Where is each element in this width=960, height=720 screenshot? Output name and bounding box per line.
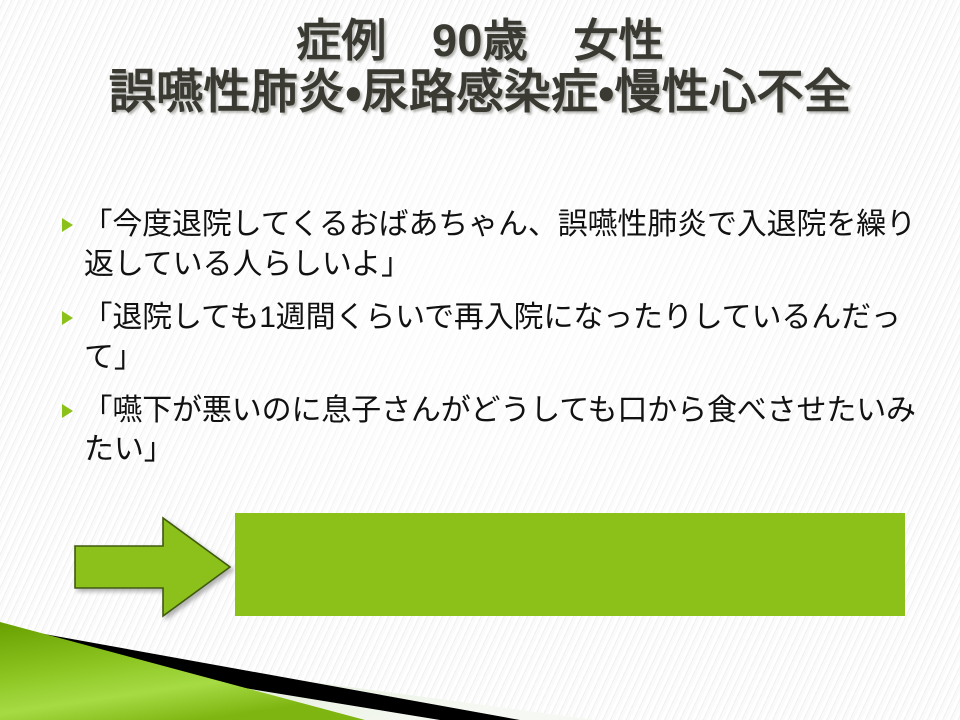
title-line-1: 症例 90歳 女性 (40, 16, 920, 66)
triangle-bullet-icon (62, 205, 84, 232)
slide-canvas: 症例 90歳 女性 誤嚥性肺炎・尿路感染症・慢性心不全 「今度退院してくるおばあ… (0, 0, 960, 720)
list-item-label: 「嚥下が悪いのに息子さんがどうしても口から食べさせたいみたい」 (84, 391, 917, 471)
list-item: 「嚥下が悪いのに息子さんがどうしても口から食べさせたいみたい」 (62, 391, 917, 471)
title-line-2: 誤嚥性肺炎・尿路感染症・慢性心不全 (40, 66, 920, 119)
list-item: 「退院しても1週間くらいで再入院になったりしているんだって」 (62, 298, 917, 378)
triangle-bullet-icon (62, 298, 84, 325)
list-item-label: 「今度退院してくるおばあちゃん、誤嚥性肺炎で入退院を繰り返している人らしいよ」 (84, 205, 917, 285)
bullet-list: 「今度退院してくるおばあちゃん、誤嚥性肺炎で入退院を繰り返している人らしいよ」 … (62, 205, 917, 483)
list-item-label: 「退院しても1週間くらいで再入院になったりしているんだって」 (84, 298, 917, 378)
triangle-bullet-icon (62, 391, 84, 418)
list-item: 「今度退院してくるおばあちゃん、誤嚥性肺炎で入退院を繰り返している人らしいよ」 (62, 205, 917, 285)
right-arrow-icon (75, 518, 230, 616)
callout-box (235, 513, 905, 616)
page-title: 症例 90歳 女性 誤嚥性肺炎・尿路感染症・慢性心不全 (40, 16, 920, 119)
